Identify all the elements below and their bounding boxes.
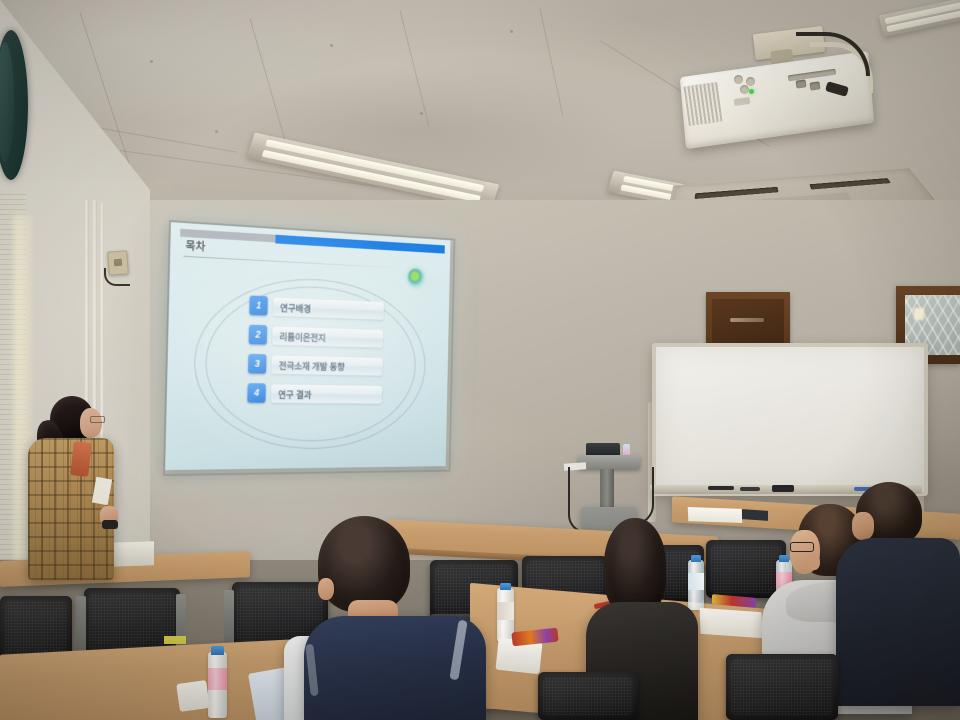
presenter-scarf (70, 441, 91, 477)
notebook[interactable] (700, 608, 763, 638)
ceiling-screw (330, 44, 333, 47)
attendee-dark-sweater (836, 482, 960, 720)
projection-screen: 목차 1 연구배경 2 리튬이온전지 3 전극소재 개발 동향 (165, 222, 450, 470)
whiteboard-eraser[interactable] (772, 485, 794, 492)
whiteboard-marker[interactable] (740, 487, 760, 491)
ceiling-projector (676, 28, 886, 148)
classroom-photo-scene: 목차 1 연구배경 2 리튬이온전지 3 전극소재 개발 동향 (0, 0, 960, 720)
outlet-socket (114, 259, 122, 267)
chair-mesh (731, 659, 833, 715)
attendee-ear (808, 554, 820, 570)
presenter (14, 396, 132, 596)
attendee-ear (318, 578, 334, 600)
ac-vent-slot (695, 187, 779, 199)
attendee-front-left (282, 516, 512, 720)
presenter-watch (102, 520, 118, 529)
attendee-hair (318, 516, 410, 612)
ceiling-screw (510, 30, 513, 33)
projector-power-cable (796, 32, 870, 76)
ceiling-screw (215, 130, 218, 133)
presenter-glasses-icon (90, 416, 105, 423)
whiteboard[interactable] (652, 343, 928, 496)
chair-arm (224, 590, 234, 648)
attendee-face (852, 512, 874, 540)
projector-port (795, 79, 806, 88)
attendee-dark-sweater-body (836, 538, 960, 706)
chair-mesh (89, 593, 175, 653)
attendee-hair (604, 518, 666, 614)
outlet-cord (104, 268, 130, 286)
ceiling-screw (150, 60, 153, 63)
whiteboard-marker[interactable] (708, 486, 734, 490)
paper-wrapper (176, 680, 210, 712)
chair[interactable] (726, 654, 838, 720)
ac-vent-slot (809, 178, 890, 189)
chair-arm (76, 596, 86, 656)
wall-object-inner (0, 42, 14, 162)
ceiling-screw (420, 112, 423, 115)
bottle-cap (211, 646, 224, 655)
glasses-icon (790, 542, 814, 552)
door-handle[interactable] (730, 318, 764, 322)
water-bottle[interactable] (208, 652, 227, 718)
podium-top-surface (578, 455, 640, 469)
chair[interactable] (538, 672, 638, 720)
projector-vent-grille (683, 82, 722, 126)
bottle-label (208, 668, 227, 690)
chair-sticker (164, 636, 186, 644)
presenter-face (80, 408, 102, 438)
screen-border (163, 220, 455, 476)
window-light-spot (914, 308, 924, 320)
projector-power-led (749, 89, 754, 94)
podium-cable-left (568, 467, 586, 533)
chair-mesh (543, 677, 633, 715)
